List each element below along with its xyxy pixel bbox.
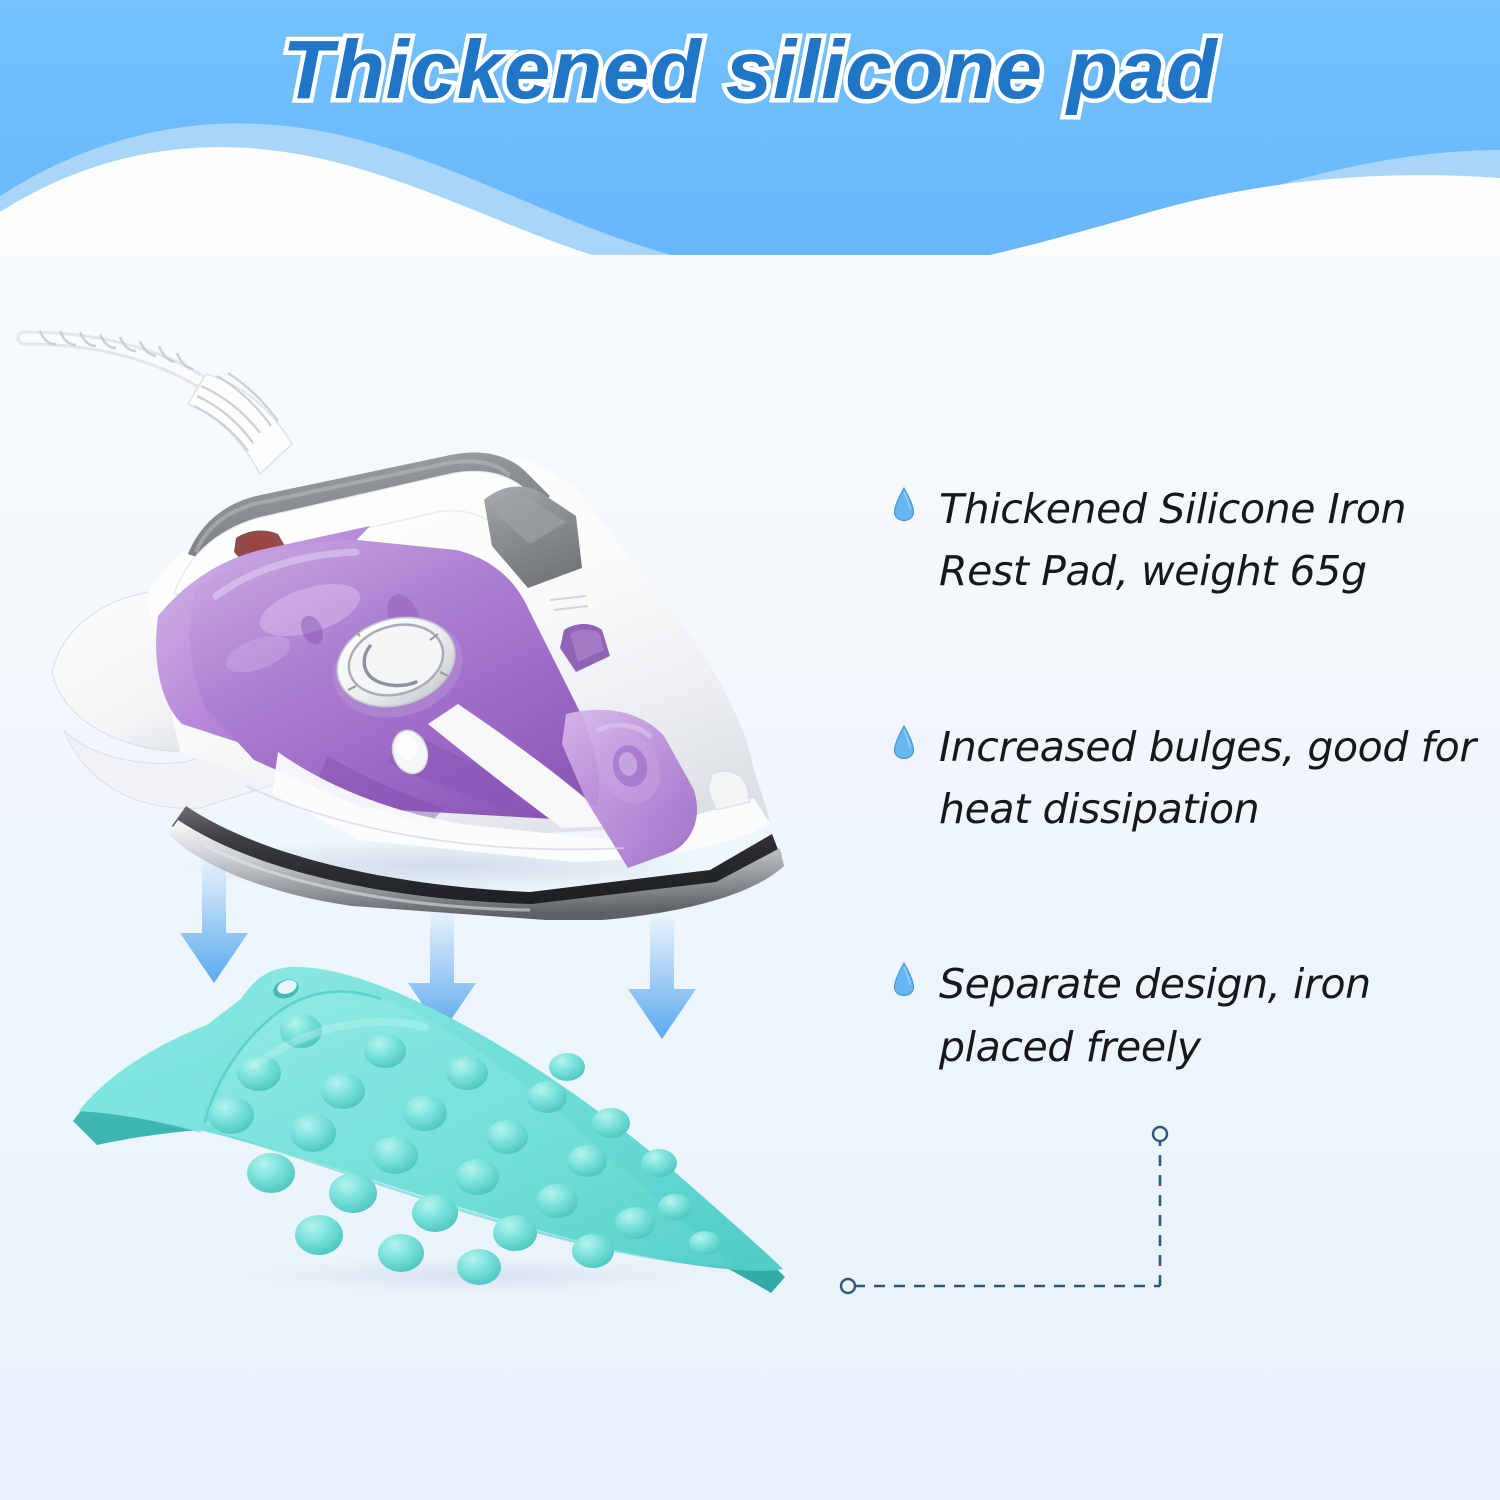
- dimension-callout: [810, 1110, 1230, 1310]
- silicone-pad-image: [55, 955, 885, 1315]
- power-cord: [24, 331, 292, 474]
- callout-endpoint-top: [1153, 1127, 1167, 1141]
- iron-soleplate-drop-icon: [893, 487, 915, 521]
- page-title: Thickened silicone pad: [0, 22, 1500, 118]
- steam-iron-image: [10, 300, 840, 920]
- iron-soleplate-drop-icon: [893, 962, 915, 996]
- feature-list: Thickened Silicone Iron Rest Pad, weight…: [893, 478, 1493, 1078]
- list-item: Increased bulges, good for heat dissipat…: [893, 716, 1493, 841]
- feature-text: Thickened Silicone Iron Rest Pad, weight…: [939, 478, 1493, 603]
- list-item: Thickened Silicone Iron Rest Pad, weight…: [893, 478, 1493, 603]
- page-header: Thickened silicone pad Thickened silicon…: [0, 0, 1500, 255]
- list-item: Separate design, iron placed freely: [893, 953, 1493, 1078]
- feature-text: Separate design, iron placed freely: [939, 953, 1493, 1078]
- iron-soleplate-drop-icon: [893, 725, 915, 759]
- callout-endpoint-left: [841, 1279, 855, 1293]
- feature-text: Increased bulges, good for heat dissipat…: [939, 716, 1493, 841]
